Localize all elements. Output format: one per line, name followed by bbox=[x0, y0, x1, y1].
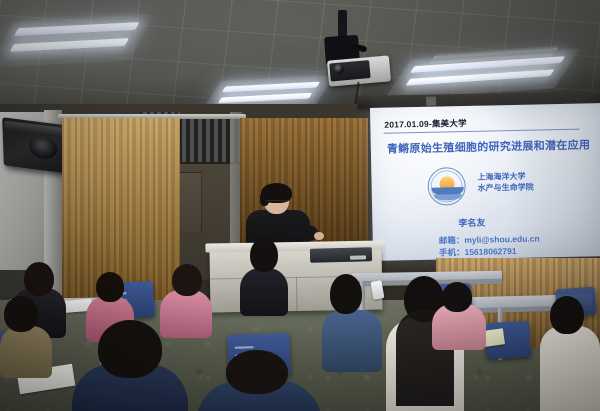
slide-phone-line: 手机：15618062791 bbox=[439, 244, 540, 258]
ceiling-light-panel-right bbox=[395, 53, 572, 93]
student-front-right-blue bbox=[196, 350, 322, 411]
university-logo-icon bbox=[427, 167, 466, 206]
slide-presenter-name: 李名友 bbox=[458, 216, 485, 230]
slide-email-line: 邮箱：myli@shou.edu.cn bbox=[439, 232, 540, 246]
student-left-dark bbox=[0, 296, 52, 368]
speaker-cone-icon bbox=[29, 135, 58, 161]
ceiling-light-panel-left bbox=[0, 19, 145, 61]
student-front-left-navy bbox=[72, 320, 188, 411]
slide-contact-block: 邮箱：myli@shou.edu.cn 手机：15618062791 bbox=[439, 232, 540, 258]
student-right-edge bbox=[540, 296, 600, 411]
lecture-hall-photo: 2017.01.09-集美大学 青鳉原始生殖细胞的研究进展和潜在应用 上海海洋大… bbox=[0, 0, 600, 411]
slide-title: 青鳉原始生殖细胞的研究进展和潜在应用 bbox=[387, 136, 592, 156]
slide-organization: 上海海洋大学 水产与生命学院 bbox=[477, 171, 533, 194]
student-center-ponytail bbox=[240, 238, 288, 308]
podium-control-panel bbox=[310, 247, 372, 263]
glasses-icon bbox=[266, 200, 287, 205]
projection-screen: 2017.01.09-集美大学 青鳉原始生殖细胞的研究进展和潜在应用 上海海洋大… bbox=[370, 103, 600, 261]
slide-date-line: 2017.01.09-集美大学 bbox=[384, 117, 467, 131]
student-far-right-pink bbox=[432, 282, 486, 346]
slide-organization-line2: 水产与生命学院 bbox=[478, 182, 534, 194]
